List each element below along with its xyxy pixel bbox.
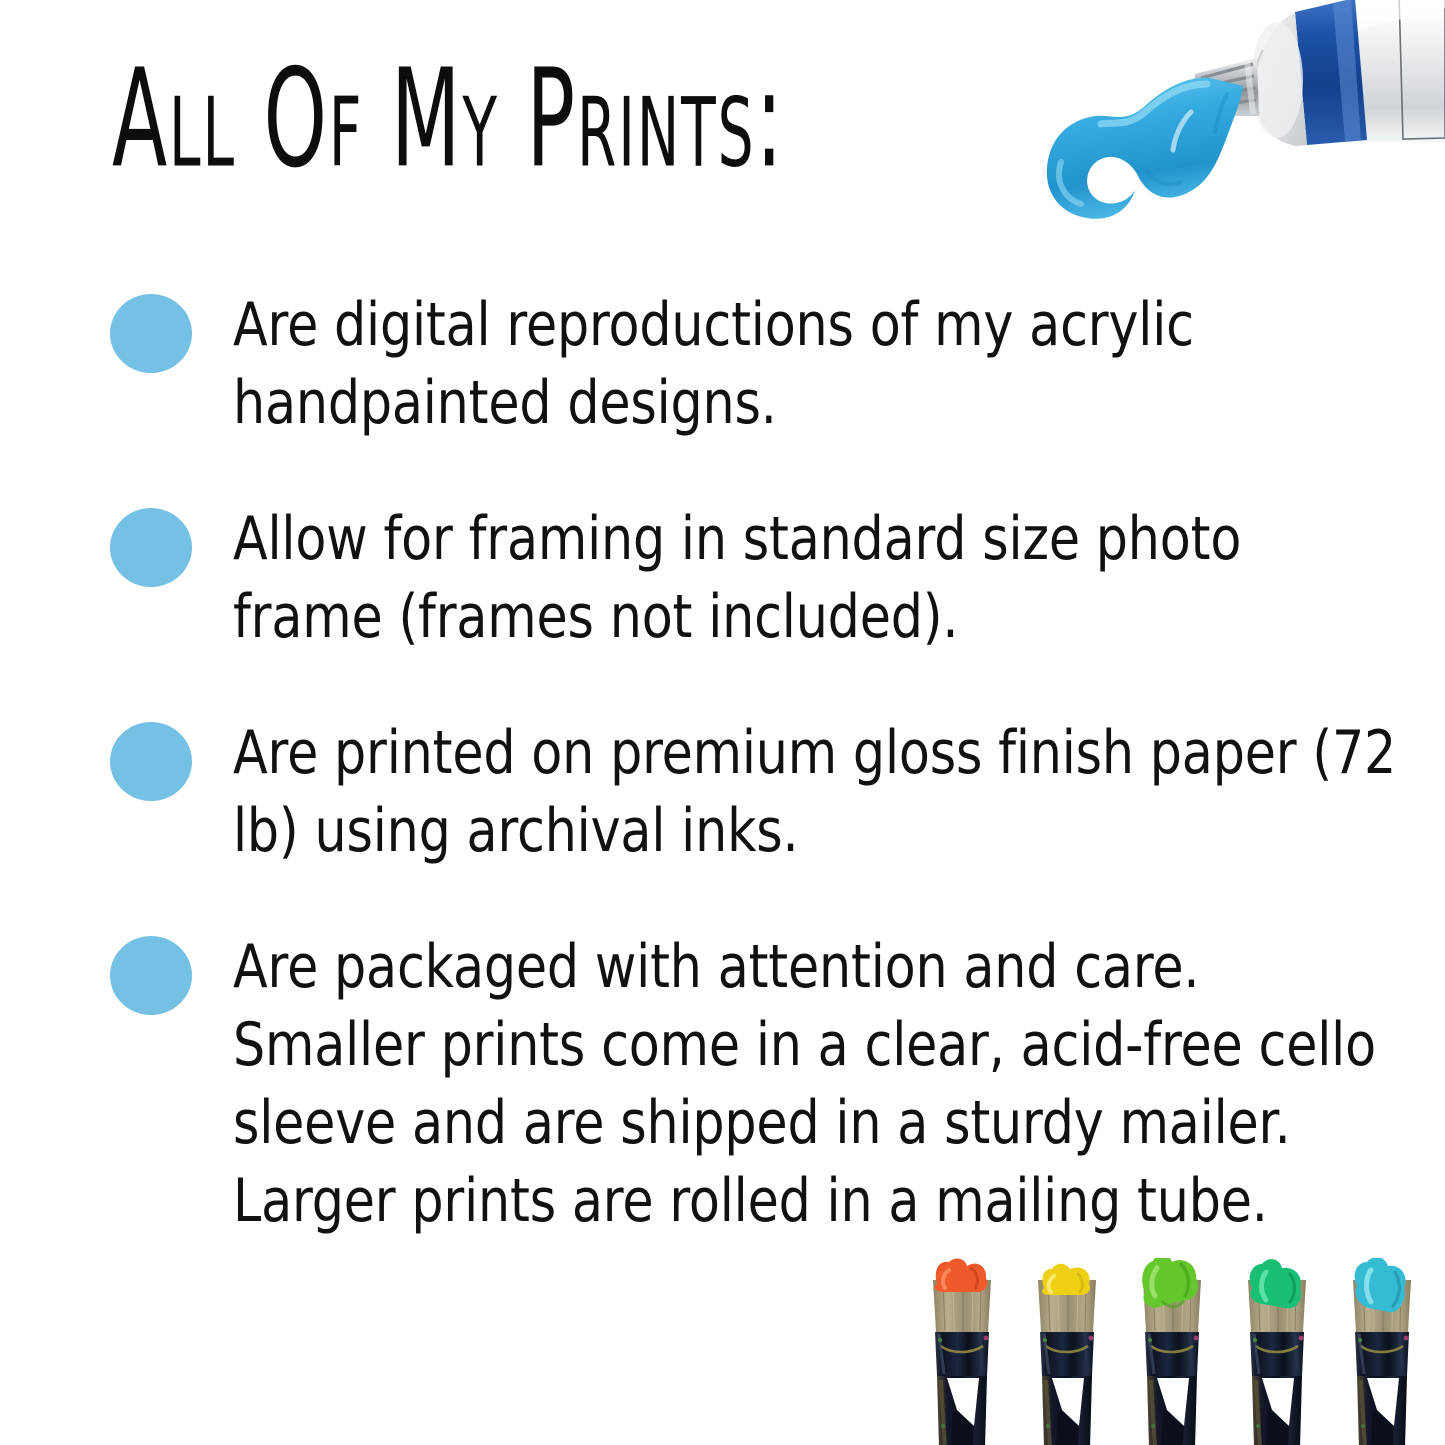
bullet-dot-icon [110,294,192,373]
paint-brush-turquoise [1353,1258,1411,1445]
blue-paint-tube-image [995,0,1445,260]
paint-brush-row-image [915,1258,1445,1445]
page-title: All Of My Prints: [112,52,785,188]
paint-brush-orange [933,1259,991,1445]
list-item-text: Are packaged with attention and care. Sm… [233,928,1399,1240]
list-item-text: Allow for framing in standard size photo… [233,500,1399,656]
paint-brush-green [1248,1259,1306,1445]
paint-brush-light-green [1142,1258,1201,1445]
paint-tube-svg [995,0,1445,260]
poster-canvas: All Of My Prints: [0,0,1445,1445]
tube-blue-band [1295,0,1367,145]
list-item-text: Are digital reproductions of my acrylic … [233,286,1399,442]
bullet-dot-icon [110,508,192,587]
list-item-text: Are printed on premium gloss finish pape… [233,714,1399,870]
paint-brushes-svg [915,1258,1445,1445]
bullet-dot-icon [110,936,192,1015]
paint-brush-yellow [1038,1264,1096,1445]
bullet-dot-icon [110,722,192,801]
extruded-paint [1047,78,1243,219]
